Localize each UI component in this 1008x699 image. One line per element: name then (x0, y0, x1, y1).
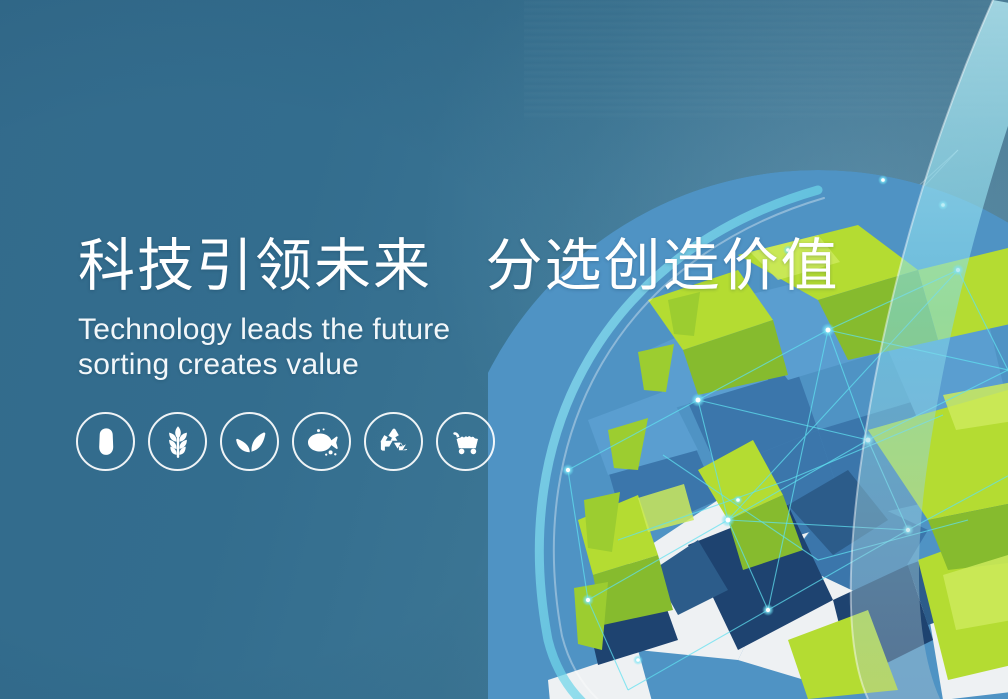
recycling-icon[interactable] (364, 412, 423, 471)
fish-icon[interactable] (292, 412, 351, 471)
rice-grain-icon[interactable] (76, 412, 135, 471)
wheat-stalk-icon[interactable] (148, 412, 207, 471)
page-title: 科技引领未来 分选创造价值 (78, 236, 718, 297)
industry-icon-row (76, 412, 495, 471)
tea-leaf-icon[interactable] (220, 412, 279, 471)
mining-cart-icon[interactable] (436, 412, 495, 471)
hero-text-block: 科技引领未来 分选创造价值 Technology leads the futur… (78, 236, 718, 383)
hero-banner: 科技引领未来 分选创造价值 Technology leads the futur… (0, 0, 1008, 699)
subtitle-line-1: Technology leads the future (78, 313, 718, 348)
subtitle-line-2: sorting creates value (78, 348, 718, 383)
subtitle: Technology leads the future sorting crea… (78, 313, 718, 383)
